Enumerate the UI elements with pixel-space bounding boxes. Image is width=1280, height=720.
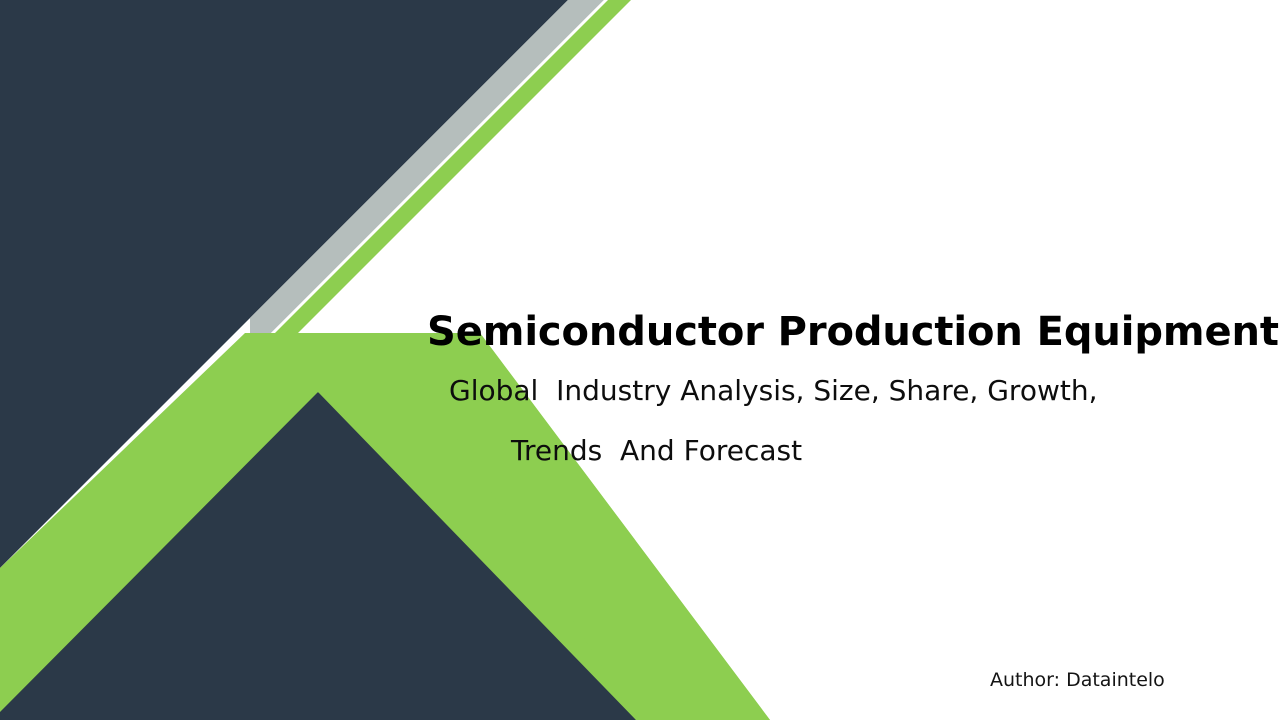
subtitle-line-one: Global Industry Analysis, Size, Share, G… [449, 377, 1097, 405]
title-slide: Semiconductor Production Equipment M Glo… [0, 0, 1280, 720]
author-credit: Author: Dataintelo [990, 671, 1165, 690]
subtitle-line-two: Trends And Forecast [511, 437, 802, 465]
slide-text-layer: Semiconductor Production Equipment M Glo… [0, 0, 1280, 720]
page-title: Semiconductor Production Equipment M [427, 312, 1280, 352]
